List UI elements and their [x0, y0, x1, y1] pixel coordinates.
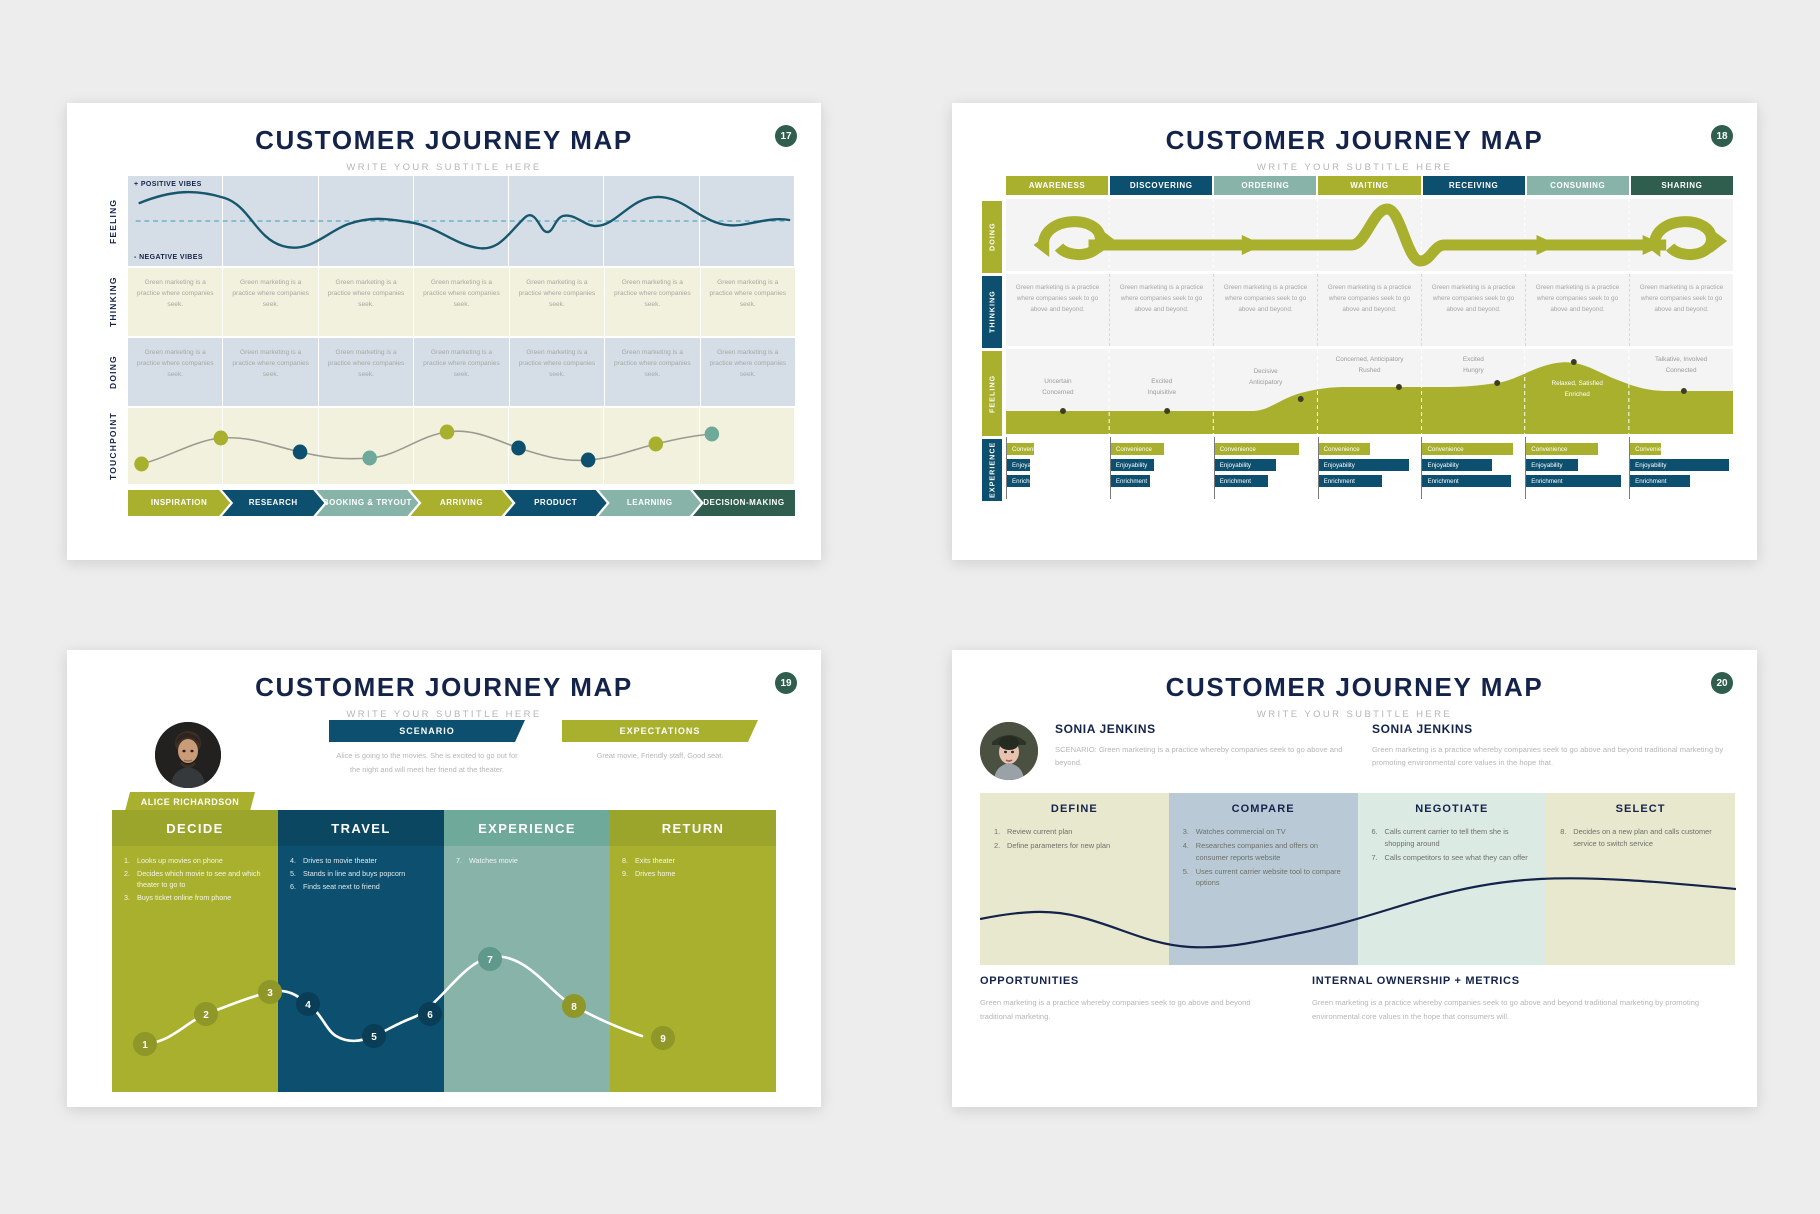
doing-cell: Green marketing is a practice where comp…: [223, 338, 318, 406]
experience-cell: Convenience Enjoyability Enrichment: [1525, 437, 1629, 499]
stage-discovering[interactable]: DISCOVERING: [1110, 176, 1212, 195]
positive-vibes-label: + POSITIVE VIBES: [134, 181, 202, 188]
column-body: 3.Watches commercial on TV 4.Researches …: [1169, 815, 1358, 889]
bar-enjoyability: Enjoyability: [1007, 459, 1030, 471]
row-label-doing: DOING: [982, 201, 1002, 273]
bar-convenience: Convenience: [1422, 443, 1513, 455]
stage-product[interactable]: PRODUCT: [505, 490, 607, 516]
metrics-section: INTERNAL OWNERSHIP + METRICS Green marke…: [1312, 975, 1742, 1024]
journey-matrix: FEELING THINKING DOING TOUCHPOINT + POSI…: [102, 176, 795, 540]
list-item: 4.Drives to movie theater: [290, 855, 432, 866]
stage-ribbon: INSPIRATION RESEARCH BOOKING & TRYOUT AR…: [128, 490, 795, 516]
bar-convenience: Convenience: [1215, 443, 1299, 455]
list-item: 5.Stands in line and buys popcorn: [290, 868, 432, 879]
cell-text: Green marketing is a practice where comp…: [319, 268, 413, 311]
opportunities-body: Green marketing is a practice whereby co…: [980, 996, 1280, 1024]
row-label-doing: DOING: [102, 338, 124, 406]
expectations-box: EXPECTATIONS Great movie, Friendly staff…: [562, 720, 758, 763]
band-thinking: Green marketing is a practice where comp…: [128, 268, 795, 336]
list-item: 3.Buys ticket online from phone: [124, 892, 266, 903]
feeling-label-row: UncertainConcerned ExcitedInquisitive De…: [1006, 349, 1733, 434]
thinking-cell: Green marketing is a practice where comp…: [319, 268, 414, 336]
bar-enjoyability: Enjoyability: [1111, 459, 1154, 471]
stage-awareness[interactable]: AWARENESS: [1006, 176, 1108, 195]
list-item: 4.Researches companies and offers on con…: [1183, 840, 1344, 864]
doing-cell: Green marketing is a practice where comp…: [701, 338, 795, 406]
stage-consuming[interactable]: CONSUMING: [1527, 176, 1629, 195]
opportunities-section: OPPORTUNITIES Green marketing is a pract…: [980, 975, 1280, 1024]
cell-text: Green marketing is a practice where comp…: [701, 268, 795, 311]
scenario-body: Alice is going to the movies. She is exc…: [329, 742, 525, 777]
page-title: CUSTOMER JOURNEY MAP: [67, 650, 821, 703]
bar-enjoyability: Enjoyability: [1319, 459, 1410, 471]
page-subtitle: WRITE YOUR SUBTITLE HERE: [67, 162, 821, 173]
column-travel[interactable]: TRAVEL 4.Drives to movie theater 5.Stand…: [278, 810, 444, 1092]
slide-19[interactable]: 19 CUSTOMER JOURNEY MAP WRITE YOUR SUBTI…: [67, 650, 821, 1107]
doing-cell: Green marketing is a practice where comp…: [414, 338, 509, 406]
experience-cell: Convenience Enjoyability Enrichment: [1318, 437, 1422, 499]
list-item: 1.Looks up movies on phone: [124, 855, 266, 866]
feeling-label: UncertainConcerned: [1006, 349, 1110, 434]
scenario-box: SCENARIO Alice is going to the movies. S…: [329, 720, 525, 777]
stage-decision-making[interactable]: DECISION-MAKING: [693, 490, 795, 516]
row-label-thinking: THINKING: [982, 276, 1002, 348]
thinking-cell: Green marketing is a practice where comp…: [1110, 274, 1214, 346]
feeling-cell: + POSITIVE VIBES - NEGATIVE VIBES: [128, 176, 223, 266]
row-label-column: DOING THINKING FEELING EXPERIENCE: [982, 201, 1002, 546]
list-item: 5.Uses current carrier website tool to c…: [1183, 866, 1344, 890]
column-define[interactable]: DEFINE 1.Review current plan 2.Define pa…: [980, 793, 1169, 965]
column-body: 7.Watches movie: [444, 846, 610, 1092]
doing-cell: Green marketing is a practice where comp…: [510, 338, 605, 406]
bar-enrichment: Enrichment: [1319, 475, 1383, 487]
touchpoint-cell: [509, 408, 604, 484]
cell-text: Green marketing is a practice where comp…: [223, 338, 317, 381]
persona-name: SONIA JENKINS: [1055, 722, 1345, 736]
persona-a: SONIA JENKINS SCENARIO: Green marketing …: [1055, 722, 1345, 770]
bar-convenience: Convenience: [1319, 443, 1370, 455]
stage-learning[interactable]: LEARNING: [599, 490, 701, 516]
opportunities-heading: OPPORTUNITIES: [980, 975, 1280, 987]
experience-cell: Convenience Enjoyability Enrichment: [1629, 437, 1733, 499]
column-heading: DECIDE: [112, 810, 278, 846]
bar-enrichment: Enrichment: [1007, 475, 1030, 487]
feeling-cell: [509, 176, 604, 266]
thinking-cell: Green marketing is a practice where comp…: [605, 268, 700, 336]
thinking-cell: Green marketing is a practice where comp…: [701, 268, 795, 336]
column-body: 1.Review current plan 2.Define parameter…: [980, 815, 1169, 852]
bar-convenience: Convenience: [1007, 443, 1034, 455]
bar-enrichment: Enrichment: [1422, 475, 1510, 487]
page-badge: 17: [775, 125, 797, 147]
feeling-cell: [223, 176, 318, 266]
touchpoint-cell: [128, 408, 223, 484]
list-item: 9.Drives home: [622, 868, 764, 879]
thinking-cell: Green marketing is a practice where comp…: [1214, 274, 1318, 346]
page-subtitle: WRITE YOUR SUBTITLE HERE: [952, 709, 1757, 720]
doing-cell: Green marketing is a practice where comp…: [605, 338, 700, 406]
touchpoint-cell: [319, 408, 414, 484]
bar-enjoyability: Enjoyability: [1422, 459, 1492, 471]
page-badge: 18: [1711, 125, 1733, 147]
cell-text: Green marketing is a practice where comp…: [223, 268, 317, 311]
thinking-cell: Green marketing is a practice where comp…: [414, 268, 509, 336]
persona-name: SONIA JENKINS: [1372, 722, 1747, 736]
cell-text: Green marketing is a practice where comp…: [605, 268, 699, 311]
bar-enrichment: Enrichment: [1215, 475, 1268, 487]
column-select[interactable]: SELECT 8.Decides on a new plan and calls…: [1546, 793, 1735, 965]
bar-enjoyability: Enjoyability: [1630, 459, 1729, 471]
row-label-column: FEELING THINKING DOING TOUCHPOINT: [102, 176, 124, 484]
stage-table: DECIDE 1.Looks up movies on phone 2.Deci…: [112, 810, 776, 1092]
column-body: 8.Exits theater 9.Drives home: [610, 846, 776, 1092]
feeling-cell: [604, 176, 699, 266]
list-item: 1.Review current plan: [994, 826, 1155, 838]
experience-row: Convenience Enjoyability Enrichment Conv…: [1006, 437, 1733, 499]
stage-sharing[interactable]: SHARING: [1631, 176, 1733, 195]
page-title: CUSTOMER JOURNEY MAP: [952, 650, 1757, 703]
stage-table: DEFINE 1.Review current plan 2.Define pa…: [980, 793, 1735, 965]
doing-flow: [1006, 199, 1733, 271]
bar-enjoyability: Enjoyability: [1526, 459, 1577, 471]
feeling-row: UncertainConcerned ExcitedInquisitive De…: [1006, 349, 1733, 434]
stage-arriving[interactable]: ARRIVING: [410, 490, 512, 516]
band-touchpoint: [128, 408, 795, 484]
list-item: 6.Calls current carrier to tell them she…: [1372, 826, 1533, 850]
column-heading: DEFINE: [980, 793, 1169, 815]
row-label-feeling: FEELING: [982, 351, 1002, 436]
cell-text: Green marketing is a practice where comp…: [128, 338, 222, 381]
list-item: 2.Define parameters for new plan: [994, 840, 1155, 852]
bar-convenience: Convenience: [1526, 443, 1598, 455]
column-heading: RETURN: [610, 810, 776, 846]
touchpoint-cell: [414, 408, 509, 484]
bar-enrichment: Enrichment: [1111, 475, 1150, 487]
persona-description: Green marketing is a practice whereby co…: [1372, 743, 1747, 770]
bar-convenience: Convenience: [1630, 443, 1661, 455]
cell-text: Green marketing is a practice where comp…: [701, 338, 795, 381]
thinking-cell: Green marketing is a practice where comp…: [1630, 274, 1733, 346]
bar-enrichment: Enrichment: [1630, 475, 1690, 487]
feeling-label: Concerned, AnticipatoryRushed: [1318, 349, 1422, 434]
list-item: 8.Exits theater: [622, 855, 764, 866]
column-return[interactable]: RETURN 8.Exits theater 9.Drives home: [610, 810, 776, 1092]
feeling-label: DecisiveAnticipatory: [1214, 349, 1318, 434]
list-item: 3.Watches commercial on TV: [1183, 826, 1344, 838]
band-feeling: + POSITIVE VIBES - NEGATIVE VIBES: [128, 176, 795, 266]
touchpoint-cell: [223, 408, 318, 484]
bar-enrichment: Enrichment: [1526, 475, 1621, 487]
column-heading: TRAVEL: [278, 810, 444, 846]
doing-cell: Green marketing is a practice where comp…: [128, 338, 223, 406]
scenario-heading: SCENARIO: [329, 720, 525, 742]
matrix-grid: + POSITIVE VIBES - NEGATIVE VIBES: [128, 176, 795, 484]
row-label-feeling: FEELING: [102, 176, 124, 266]
list-item: 7.Watches movie: [456, 855, 598, 866]
page-subtitle: WRITE YOUR SUBTITLE HERE: [952, 162, 1757, 173]
row-label-touchpoint: TOUCHPOINT: [102, 408, 124, 484]
page-subtitle: WRITE YOUR SUBTITLE HERE: [67, 709, 821, 720]
cell-text: Green marketing is a practice where comp…: [414, 268, 508, 311]
feeling-cell: [319, 176, 414, 266]
cell-text: Green marketing is a practice where comp…: [605, 338, 699, 381]
experience-cell: Convenience Enjoyability Enrichment: [1214, 437, 1318, 499]
persona-header: SONIA JENKINS SCENARIO: Green marketing …: [980, 722, 1735, 784]
touchpoint-cell: [700, 408, 795, 484]
feeling-label: Talkative, InvolvedConnected: [1629, 349, 1733, 434]
avatar: [155, 722, 221, 788]
feeling-label: ExcitedHungry: [1421, 349, 1525, 434]
column-negotiate[interactable]: NEGOTIATE 6.Calls current carrier to tel…: [1358, 793, 1547, 965]
column-compare[interactable]: COMPARE 3.Watches commercial on TV 4.Res…: [1169, 793, 1358, 965]
doing-cell: Green marketing is a practice where comp…: [319, 338, 414, 406]
expectations-body: Great movie, Friendly staff, Good seat.: [562, 742, 758, 763]
experience-cell: Convenience Enjoyability Enrichment: [1421, 437, 1525, 499]
doing-arrow-diagram: [1006, 199, 1733, 271]
cell-text: Green marketing is a practice where comp…: [128, 268, 222, 311]
column-body: 8.Decides on a new plan and calls custom…: [1546, 815, 1735, 850]
negative-vibes-label: - NEGATIVE VIBES: [134, 254, 203, 261]
experience-cell: Convenience Enjoyability Enrichment: [1110, 437, 1214, 499]
expectations-heading: EXPECTATIONS: [562, 720, 758, 742]
touchpoint-cell: [604, 408, 699, 484]
column-experience[interactable]: EXPERIENCE 7.Watches movie: [444, 810, 610, 1092]
stage-ordering[interactable]: ORDERING: [1214, 176, 1316, 195]
feeling-cell: [700, 176, 795, 266]
column-body: 1.Looks up movies on phone 2.Decides whi…: [112, 846, 278, 1092]
slide-17[interactable]: 17 CUSTOMER JOURNEY MAP WRITE YOUR SUBTI…: [67, 103, 821, 560]
thinking-cell: Green marketing is a practice where comp…: [128, 268, 223, 336]
persona-header: ALICE RICHARDSON SCENARIO Alice is going…: [67, 720, 821, 802]
column-body: 4.Drives to movie theater 5.Stands in li…: [278, 846, 444, 1092]
row-label-thinking: THINKING: [102, 268, 124, 336]
page-badge: 20: [1711, 672, 1733, 694]
cell-text: Green marketing is a practice where comp…: [414, 338, 508, 381]
thinking-cell: Green marketing is a practice where comp…: [1526, 274, 1630, 346]
thinking-cell: Green marketing is a practice where comp…: [1422, 274, 1526, 346]
avatar-portrait-icon: [980, 722, 1038, 780]
column-heading: NEGOTIATE: [1358, 793, 1547, 815]
page-title: CUSTOMER JOURNEY MAP: [952, 103, 1757, 156]
thinking-cell: Green marketing is a practice where comp…: [1318, 274, 1422, 346]
column-body: 6.Calls current carrier to tell them she…: [1358, 815, 1547, 864]
stage-research[interactable]: RESEARCH: [222, 490, 324, 516]
cell-text: Green marketing is a practice where comp…: [510, 268, 604, 311]
band-doing: Green marketing is a practice where comp…: [128, 338, 795, 406]
feeling-label: Relaxed, SatisfiedEnriched: [1525, 349, 1629, 434]
bar-convenience: Convenience: [1111, 443, 1164, 455]
journey-matrix: DOING THINKING FEELING EXPERIENCE AWAREN…: [982, 176, 1733, 546]
stage-receiving[interactable]: RECEIVING: [1423, 176, 1525, 195]
experience-cell: Convenience Enjoyability Enrichment: [1006, 437, 1110, 499]
bar-enjoyability: Enjoyability: [1215, 459, 1277, 471]
column-heading: EXPERIENCE: [444, 810, 610, 846]
feeling-cell: [414, 176, 509, 266]
column-heading: SELECT: [1546, 793, 1735, 815]
thinking-cell: Green marketing is a practice where comp…: [1006, 274, 1110, 346]
page-badge: 19: [775, 672, 797, 694]
thinking-row: Green marketing is a practice where comp…: [1006, 274, 1733, 346]
row-label-experience: EXPERIENCE: [982, 439, 1002, 501]
avatar-portrait-icon: [155, 722, 221, 788]
list-item: 6.Finds seat next to friend: [290, 881, 432, 892]
page-title: CUSTOMER JOURNEY MAP: [67, 103, 821, 156]
slide-20[interactable]: 20 CUSTOMER JOURNEY MAP WRITE YOUR SUBTI…: [952, 650, 1757, 1107]
stage-booking-tryout[interactable]: BOOKING & TRYOUT: [316, 490, 418, 516]
stage-header-row: AWARENESS DISCOVERING ORDERING WAITING R…: [1006, 176, 1733, 195]
persona-b: SONIA JENKINS Green marketing is a pract…: [1372, 722, 1747, 770]
list-item: 2.Decides which movie to see and which t…: [124, 868, 266, 890]
stage-waiting[interactable]: WAITING: [1318, 176, 1420, 195]
persona-scenario: SCENARIO: Green marketing is a practice …: [1055, 743, 1345, 770]
stage-inspiration[interactable]: INSPIRATION: [128, 490, 230, 516]
thinking-cell: Green marketing is a practice where comp…: [223, 268, 318, 336]
slide-18[interactable]: 18 CUSTOMER JOURNEY MAP WRITE YOUR SUBTI…: [952, 103, 1757, 560]
avatar: [980, 722, 1038, 780]
metrics-heading: INTERNAL OWNERSHIP + METRICS: [1312, 975, 1742, 987]
slides-canvas: 17 CUSTOMER JOURNEY MAP WRITE YOUR SUBTI…: [0, 0, 1820, 1214]
matrix-main: AWARENESS DISCOVERING ORDERING WAITING R…: [1006, 176, 1733, 546]
thinking-cell: Green marketing is a practice where comp…: [510, 268, 605, 336]
list-item: 8.Decides on a new plan and calls custom…: [1560, 826, 1721, 850]
column-decide[interactable]: DECIDE 1.Looks up movies on phone 2.Deci…: [112, 810, 278, 1092]
cell-text: Green marketing is a practice where comp…: [319, 338, 413, 381]
persona-name-tag: ALICE RICHARDSON: [125, 792, 255, 811]
column-heading: COMPARE: [1169, 793, 1358, 815]
list-item: 7.Calls competitors to see what they can…: [1372, 852, 1533, 864]
feeling-label: ExcitedInquisitive: [1110, 349, 1214, 434]
metrics-body: Green marketing is a practice whereby co…: [1312, 996, 1742, 1024]
cell-text: Green marketing is a practice where comp…: [510, 338, 604, 381]
